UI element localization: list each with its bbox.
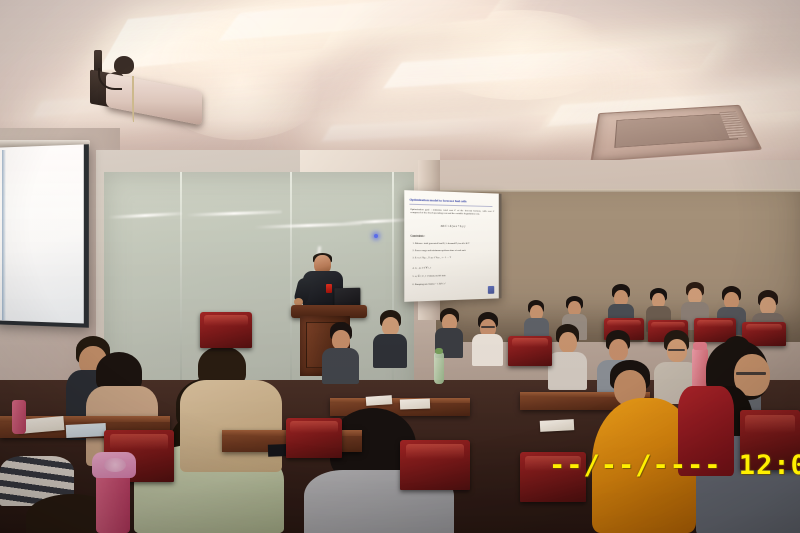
projection-screen-left: [0, 144, 89, 327]
torso: [548, 352, 587, 390]
screen-left-edge: [2, 150, 6, 320]
projector-front: [84, 50, 214, 120]
bottle-cap: [693, 342, 707, 350]
projector-cable: [132, 76, 134, 122]
water-bottle: [96, 470, 130, 533]
seat: [740, 410, 800, 470]
seat: [520, 452, 586, 502]
seat: [200, 312, 252, 348]
water-bottle: [434, 352, 444, 384]
slide-constraint-item: 5. zᵢₜ ∈ { 0 , 1 } binary on/off state: [412, 273, 494, 278]
glass-reflection: [108, 212, 182, 219]
paper-sheet: [66, 423, 107, 438]
bottle-spout-icon: [104, 458, 126, 472]
slide-constraint-item: 2. Power range and minimum up/down time …: [412, 249, 494, 252]
bottle-cap: [435, 348, 443, 354]
seat: [400, 440, 470, 490]
seat: [508, 336, 552, 366]
slide-paragraph: Optimization goal : minimize total cost …: [410, 208, 494, 217]
glass-reflection: [186, 210, 282, 216]
projection-screen-main: Optimization model to forecast fuel cell…: [404, 190, 501, 302]
head: [609, 339, 628, 361]
torso: [322, 348, 359, 384]
paper-sheet: [366, 395, 393, 406]
seat: [286, 418, 342, 458]
glasses-icon: [481, 326, 495, 328]
ac-grill-icon: [615, 113, 738, 147]
head: [332, 330, 350, 350]
water-bottle: [12, 400, 26, 434]
glasses-icon: [668, 349, 685, 351]
torso: [678, 386, 734, 476]
paper-sheet: [400, 398, 430, 409]
presenter-badge: [326, 284, 332, 293]
glass-reflection: [342, 218, 408, 224]
slide-constraint-item: 6. Ramping rate limits r⁻ ≤ ΔP ≤ r⁺: [412, 281, 494, 286]
slide-logo-icon: [488, 286, 494, 294]
torso: [472, 334, 503, 366]
torso: [180, 380, 282, 472]
torso: [373, 334, 407, 368]
slide-constraint-item: 4. xᵢₜ , yᵢₜ ≥ 0 ∀ i , t: [412, 265, 494, 269]
lecture-hall-photo: Optimization model to forecast fuel cell…: [0, 0, 800, 533]
glasses-icon: [736, 372, 766, 375]
paper-sheet: [540, 419, 575, 432]
head: [559, 332, 577, 353]
slide-constraint-item: 1. Balance: total generated load Pₜ ≥ de…: [412, 242, 494, 245]
slide-constraint-item: 3. Σᵢ xᵢₜ ≤ Xₘₐₓ , Σᵢ yᵢₜ ≤ Yₘₐₓ , t = 1…: [412, 256, 494, 260]
slide-constraints-heading: Constraints :: [410, 235, 425, 238]
slide-equation: min C = Σ ( aᵢ xᵢ + bᵢ yᵢ ): [404, 224, 498, 228]
status-led-icon: [374, 234, 378, 238]
